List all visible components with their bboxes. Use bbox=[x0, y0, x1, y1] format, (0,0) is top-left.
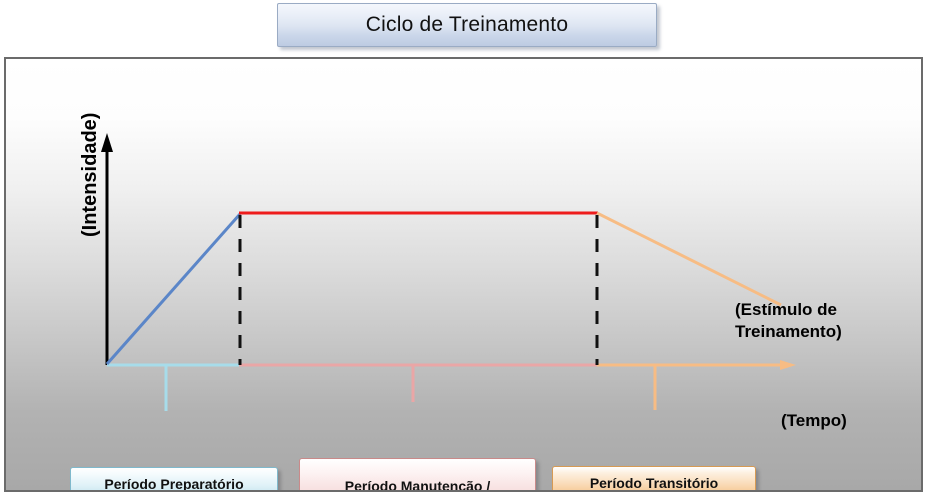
period-box-manutencao-line-1: Período Manutenção / bbox=[345, 478, 490, 492]
period-box-manutencao-label: Período Manutenção / Competitivo bbox=[345, 477, 490, 492]
period-box-preparatorio[interactable]: Período Preparatório bbox=[70, 467, 278, 492]
stimulus-annotation-line-1: (Estímulo de bbox=[735, 299, 842, 321]
x-axis-segments bbox=[107, 360, 796, 370]
title-button[interactable]: Ciclo de Treinamento bbox=[277, 3, 657, 47]
time-axis-arrow-icon bbox=[780, 360, 796, 370]
curve-decline-segment bbox=[597, 213, 781, 305]
y-axis-label: (Intensidade) bbox=[77, 57, 103, 237]
curve-rise-segment bbox=[107, 214, 240, 364]
period-box-transitorio[interactable]: Período Transitório bbox=[552, 466, 756, 492]
phase-dividers bbox=[240, 215, 597, 365]
x-axis-label: (Tempo) bbox=[781, 411, 847, 431]
stimulus-annotation-line-2: Treinamento) bbox=[735, 321, 842, 343]
intensity-curve bbox=[107, 213, 781, 364]
chart-frame: (Intensidade) (Tempo) (Estímulo de Trein… bbox=[4, 57, 923, 492]
stimulus-annotation: (Estímulo de Treinamento) bbox=[735, 299, 842, 343]
page-title: Ciclo de Treinamento bbox=[366, 13, 568, 37]
period-box-manutencao[interactable]: Período Manutenção / Competitivo bbox=[299, 458, 536, 492]
title-bar: Ciclo de Treinamento bbox=[277, 3, 657, 47]
period-box-transitorio-label: Período Transitório bbox=[590, 474, 718, 492]
period-connectors bbox=[166, 365, 655, 411]
period-box-preparatorio-label: Período Preparatório bbox=[104, 475, 243, 493]
